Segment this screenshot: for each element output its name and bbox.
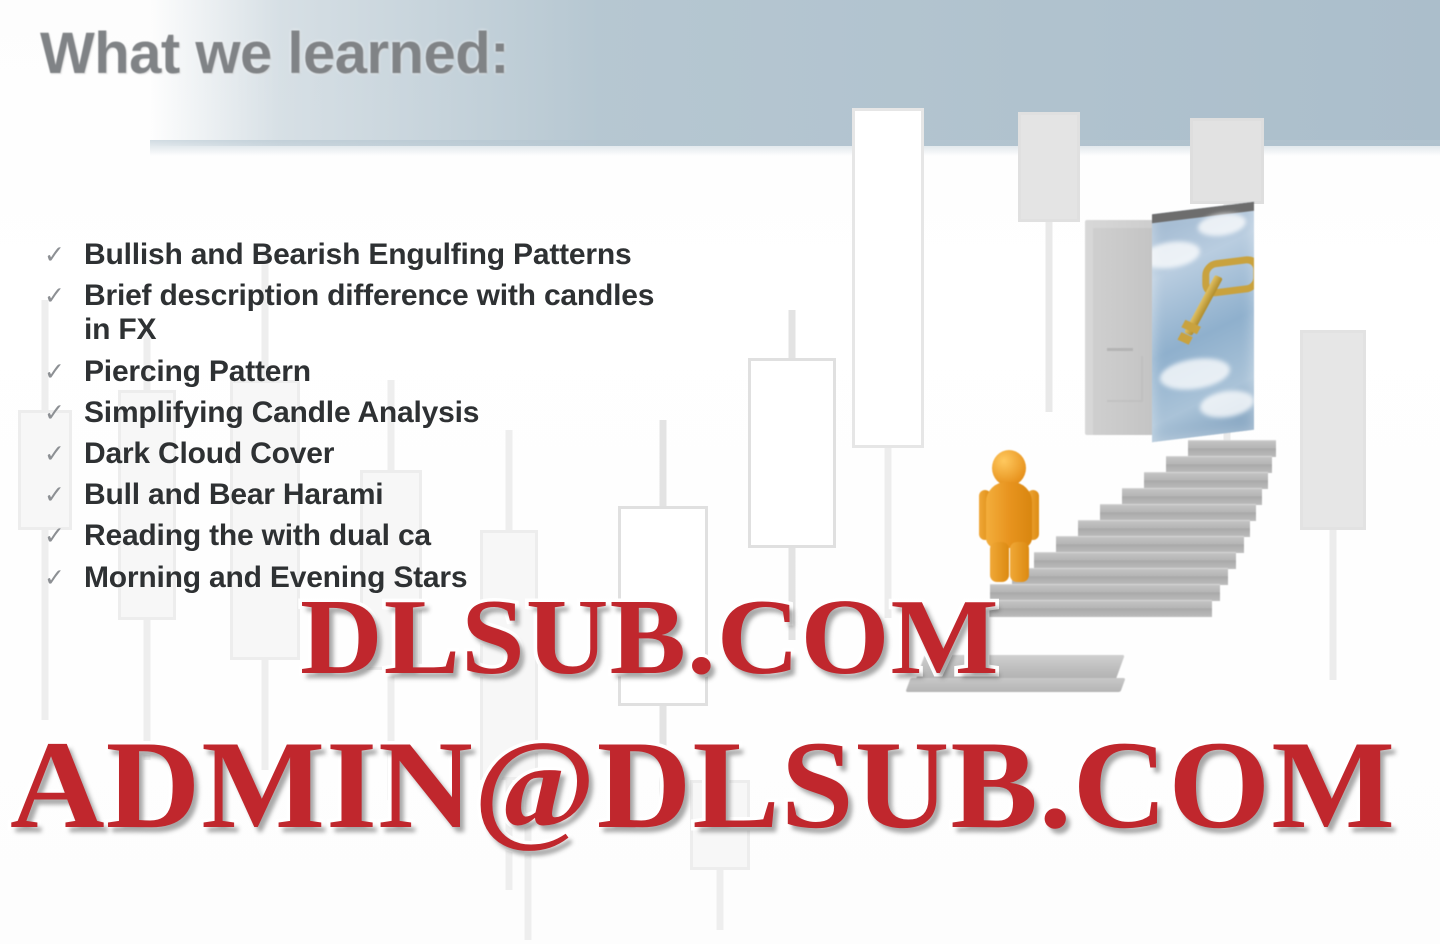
checkmark-icon: ✓ <box>44 355 84 385</box>
stair-step <box>1188 440 1276 457</box>
checkmark-icon: ✓ <box>44 396 84 426</box>
presentation-slide: What we learned: ✓ Bullish and Bearish E… <box>0 0 1440 944</box>
page-title: What we learned: <box>40 20 509 87</box>
stair-step <box>990 584 1220 601</box>
cloud-icon <box>1200 388 1254 421</box>
list-item-label: Brief description difference with candle… <box>84 279 684 347</box>
list-item: ✓ Bullish and Bearish Engulfing Patterns <box>44 238 704 272</box>
list-item: ✓ Dark Cloud Cover <box>44 437 704 471</box>
stair-step <box>968 600 1212 617</box>
watermark-site: DLSUB.COM <box>300 576 1000 700</box>
stair-step <box>1034 552 1236 569</box>
cloud-icon <box>1160 355 1230 394</box>
stair-step <box>1056 536 1244 553</box>
checkmark-icon: ✓ <box>44 238 84 268</box>
stair-step <box>1144 472 1268 489</box>
list-item: ✓ Piercing Pattern <box>44 355 704 389</box>
checkmark-icon: ✓ <box>44 519 84 549</box>
figure-head <box>992 450 1026 486</box>
list-item: ✓ Bull and Bear Harami <box>44 478 704 512</box>
checkmark-icon: ✓ <box>44 437 84 467</box>
list-item: ✓ Brief description difference with cand… <box>44 279 704 347</box>
stair-step <box>1100 504 1256 521</box>
stair-step <box>1012 568 1228 585</box>
figure-leg <box>1010 542 1029 582</box>
figure-torso <box>986 482 1032 548</box>
stair-step <box>1078 520 1250 537</box>
orange-person-figure <box>978 450 1040 580</box>
checkmark-icon: ✓ <box>44 561 84 591</box>
watermark-email: ADMIN@DLSUB.COM <box>10 714 1396 858</box>
list-item: ✓ Simplifying Candle Analysis <box>44 396 704 430</box>
list-item-label: Bullish and Bearish Engulfing Patterns <box>84 238 631 272</box>
learned-bullet-list: ✓ Bullish and Bearish Engulfing Patterns… <box>44 238 704 602</box>
stair-step <box>1166 456 1272 473</box>
list-item-label: Reading the with dual ca <box>84 519 431 553</box>
stair-step <box>1122 488 1262 505</box>
list-item-label: Dark Cloud Cover <box>84 437 334 471</box>
list-item-label: Bull and Bear Harami <box>84 478 383 512</box>
checkmark-icon: ✓ <box>44 478 84 508</box>
checkmark-icon: ✓ <box>44 279 84 309</box>
list-item-label: Piercing Pattern <box>84 355 311 389</box>
list-item-label: Simplifying Candle Analysis <box>84 396 479 430</box>
open-doorway-sky <box>1152 202 1254 443</box>
list-item: ✓ Reading the with dual ca <box>44 519 704 553</box>
